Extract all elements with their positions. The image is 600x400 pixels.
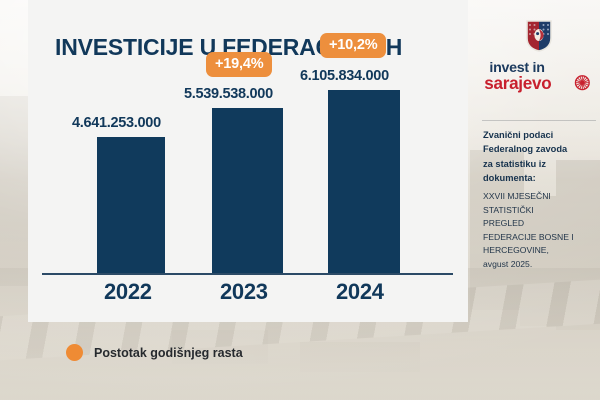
logo-rosette-icon <box>575 76 589 90</box>
source-document-line: PREGLED <box>483 217 599 231</box>
source-heading-line: Zvanični podaci <box>483 128 599 142</box>
source-heading: Zvanični podaci Federalnog zavoda za sta… <box>483 128 599 186</box>
legend-label: Postotak godišnjeg rasta <box>94 346 243 360</box>
chart-legend: Postotak godišnjeg rasta <box>66 344 243 361</box>
x-tick-2022: 2022 <box>104 279 152 305</box>
source-panel: invest in sarajevo Zvanični podaci Feder… <box>478 0 600 400</box>
source-document-line: FEDERACIJE BOSNE I <box>483 231 599 245</box>
source-heading-line: za statistiku iz <box>483 157 599 171</box>
source-document-line: HERCEGOVINE, <box>483 244 599 258</box>
bar-2024[interactable] <box>328 90 400 273</box>
source-document-line: XXVII MJESEČNI <box>483 190 599 204</box>
source-document-line: avgust 2025. <box>483 258 599 272</box>
logo-wordmark: invest in sarajevo <box>482 57 596 97</box>
sarajevo-coat-of-arms-icon <box>526 20 552 52</box>
source-heading-line: dokumenta: <box>483 171 599 185</box>
bar-2022[interactable] <box>97 137 165 273</box>
growth-badge-2024: +10,2% <box>320 33 386 58</box>
bar-value-2023: 5.539.538.000 <box>184 86 273 102</box>
logo-line-sarajevo: sarajevo <box>484 74 551 93</box>
source-heading-line: Federalnog zavoda <box>483 142 599 156</box>
bar-2023[interactable] <box>212 108 283 273</box>
x-axis-line <box>42 273 453 275</box>
x-tick-2024: 2024 <box>336 279 384 305</box>
source-document: XXVII MJESEČNI STATISTIČKI PREGLED FEDER… <box>483 190 599 271</box>
legend-orange-dot-icon <box>66 344 83 361</box>
bar-chart-plot: 4.641.253.000 2022 5.539.538.000 +19,4% … <box>28 70 468 275</box>
infographic-canvas: INVESTICIJE U FEDERACIJI BIH 4.641.253.0… <box>0 0 600 400</box>
x-tick-2023: 2023 <box>220 279 268 305</box>
bar-value-2024: 6.105.834.000 <box>300 68 389 84</box>
panel-divider <box>482 120 596 121</box>
growth-badge-2023: +19,4% <box>206 52 272 77</box>
invest-in-sarajevo-logo[interactable]: invest in sarajevo <box>478 20 600 97</box>
source-document-line: STATISTIČKI <box>483 204 599 218</box>
bar-value-2022: 4.641.253.000 <box>72 115 161 131</box>
